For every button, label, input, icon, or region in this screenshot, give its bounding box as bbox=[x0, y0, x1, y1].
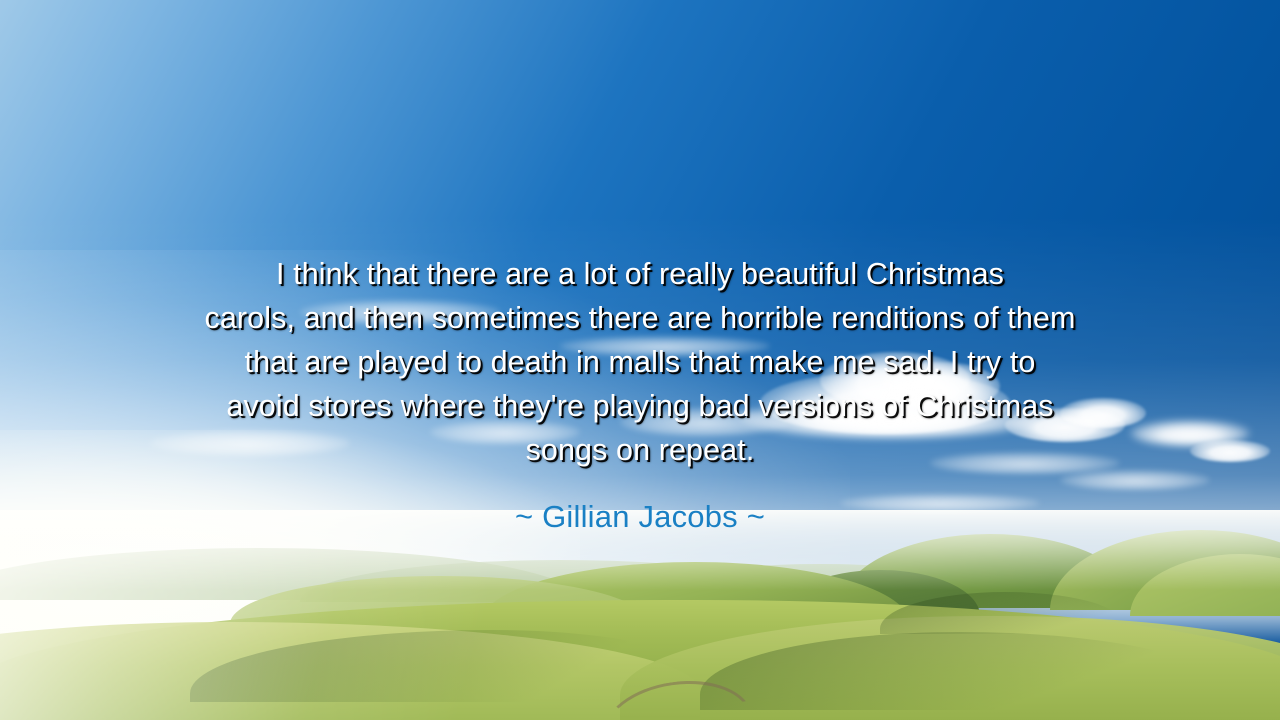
hills-landscape bbox=[0, 520, 1280, 720]
quote-text: I think that there are a lot of really b… bbox=[40, 252, 1240, 472]
quote-attribution: ~ Gillian Jacobs ~ bbox=[0, 498, 1280, 536]
quote-wallpaper: I think that there are a lot of really b… bbox=[0, 0, 1280, 720]
quote-block: I think that there are a lot of really b… bbox=[0, 252, 1280, 472]
